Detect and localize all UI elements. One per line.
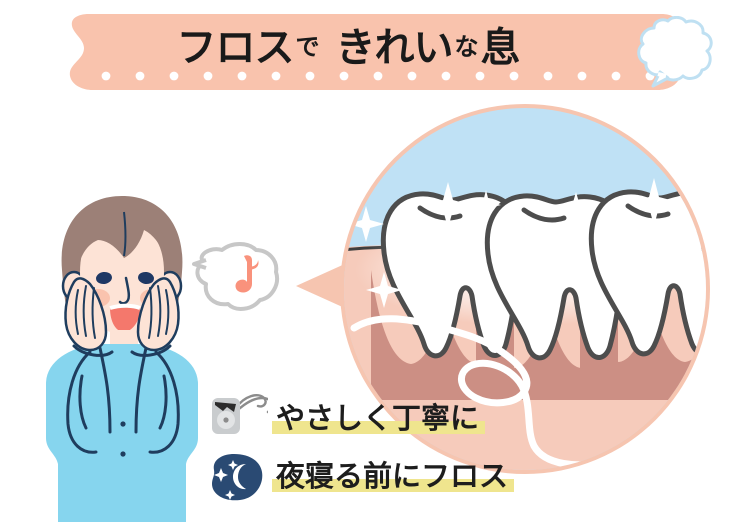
caption-text: やさしく丁寧に [276,403,479,435]
caption-text: 夜寝る前にフロス [276,461,508,493]
button [120,421,125,426]
title-part-4: な [453,36,481,60]
title-part-2: で [294,36,322,60]
floss-dispenser-icon [206,392,268,446]
title-part-1: フロス [177,28,294,68]
spool-center [223,417,228,422]
caption-row-night: 夜寝る前にフロス [206,452,514,502]
button [120,451,125,456]
title-part-3: きれい [336,28,453,68]
banner-title: フロス で きれい な 息 [62,22,688,74]
caption-text-wrap: やさしく丁寧に [272,402,485,436]
caption-text-wrap: 夜寝る前にフロス [272,460,514,494]
caption-row-gentle: やさしく丁寧に [206,392,485,446]
headline-banner: フロス で きれい な 息 [62,14,688,90]
illustration-canvas: フロス で きれい な 息 [0,0,750,530]
smiling-woman-illustration [28,186,216,530]
night-moon-icon [206,452,268,502]
music-note-bubble [192,240,284,322]
thought-cloud-icon [620,16,720,102]
title-part-5: 息 [481,28,520,68]
